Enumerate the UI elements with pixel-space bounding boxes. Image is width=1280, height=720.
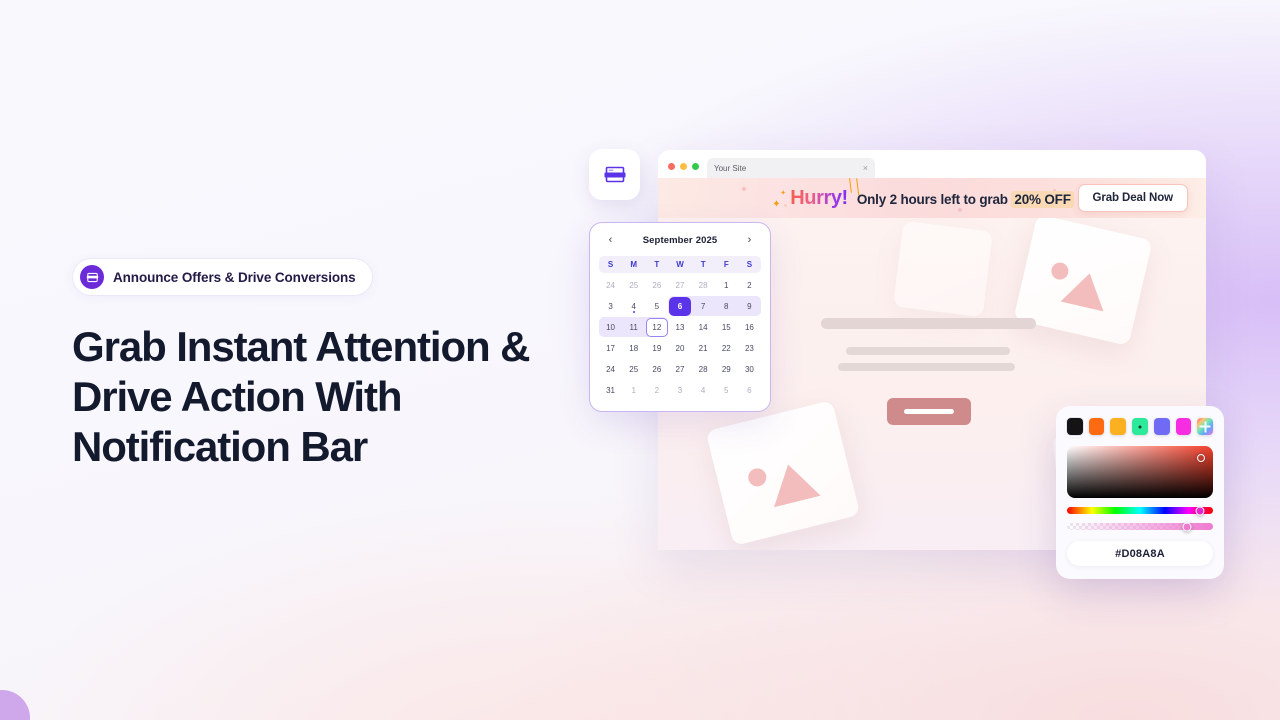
calendar-day-label: 4	[623, 297, 645, 316]
notification-hurry-text: Hurry!	[790, 187, 848, 210]
calendar-week-row: 24252627282930	[599, 359, 761, 379]
calendar-day-cell[interactable]: 31	[599, 380, 622, 400]
calendar-day-cell[interactable]: 24	[599, 275, 622, 295]
calendar-week-row: 10111213141516	[599, 317, 761, 337]
calendar-day-cell[interactable]: 19	[645, 338, 668, 358]
calendar-day-label: 19	[646, 339, 668, 358]
notification-discount: 20% OFF	[1011, 191, 1073, 208]
calendar-day-name: M	[622, 260, 645, 269]
hue-slider[interactable]	[1067, 507, 1213, 514]
browser-chrome: Your Site ×	[658, 150, 1206, 178]
calendar-day-cell[interactable]: 16	[738, 317, 761, 337]
calendar-day-label: 7	[692, 297, 714, 316]
calendar-day-label: 6	[738, 381, 760, 400]
calendar-day-cell[interactable]: 26	[645, 359, 668, 379]
calendar-day-cell[interactable]: 24	[599, 359, 622, 379]
skeleton-button	[887, 398, 971, 425]
calendar-day-name: W	[668, 260, 691, 269]
notification-bar-icon	[80, 265, 104, 289]
calendar-week-row: 31123456	[599, 380, 761, 400]
calendar-week-row: 3456789	[599, 296, 761, 316]
calendar-day-label: 28	[692, 276, 714, 295]
close-dot[interactable]	[668, 163, 675, 170]
calendar-header: ‹ September2025 ›	[599, 233, 761, 256]
opacity-slider[interactable]	[1067, 523, 1213, 530]
calendar-day-label: 29	[715, 360, 737, 379]
calendar-day-cell[interactable]: 15	[715, 317, 738, 337]
calendar-day-cell[interactable]: 25	[622, 359, 645, 379]
calendar-title: September2025	[643, 235, 718, 246]
calendar-day-label: 10	[600, 318, 622, 337]
calendar-day-name: F	[715, 260, 738, 269]
color-swatch-indigo[interactable]	[1154, 418, 1170, 435]
calendar-day-label: 18	[623, 339, 645, 358]
calendar-day-cell[interactable]: 28	[692, 275, 715, 295]
grab-deal-now-button[interactable]: Grab Deal Now	[1078, 184, 1189, 212]
calendar-day-label: 21	[692, 339, 714, 358]
calendar-day-name: T	[692, 260, 715, 269]
notification-message: Only 2 hours left to grab 20% OFF	[857, 192, 1074, 207]
calendar-day-label: 24	[600, 276, 622, 295]
calendar-day-cell[interactable]: 27	[668, 359, 691, 379]
image-icon	[765, 459, 821, 507]
calendar-day-cell[interactable]: 12	[645, 317, 668, 337]
calendar-day-name: S	[738, 260, 761, 269]
calendar-year: 2025	[696, 235, 718, 246]
hex-color-input[interactable]: #D08A8A	[1067, 541, 1213, 566]
browser-tab-label: Your Site	[714, 164, 746, 173]
color-swatch-mint[interactable]	[1132, 418, 1148, 435]
color-picker-panel[interactable]: #D08A8A	[1056, 406, 1224, 579]
skeleton-heading	[821, 318, 1036, 329]
calendar-day-label: 3	[669, 381, 691, 400]
calendar-day-cell[interactable]: 6	[738, 380, 761, 400]
calendar-week-row: 17181920212223	[599, 338, 761, 358]
notification-message-prefix: Only 2 hours left to grab	[857, 192, 1012, 207]
calendar-day-label: 23	[738, 339, 760, 358]
confetti-dot	[784, 204, 787, 207]
hue-slider-handle[interactable]	[1195, 506, 1204, 515]
calendar-day-cell[interactable]: 1	[715, 275, 738, 295]
calendar-day-cell[interactable]: 27	[668, 275, 691, 295]
calendar-day-cell[interactable]: 30	[738, 359, 761, 379]
calendar-day-cell[interactable]: 10	[599, 317, 622, 337]
calendar-day-cell[interactable]: 4	[622, 296, 645, 316]
calendar-day-label: 25	[623, 276, 645, 295]
swatch-dot-icon	[1139, 425, 1142, 428]
calendar-day-cell[interactable]: 7	[692, 296, 715, 316]
calendar-day-cell[interactable]: 9	[738, 296, 761, 316]
opacity-slider-handle[interactable]	[1182, 522, 1191, 531]
skeleton-text-line	[846, 347, 1010, 355]
calendar-day-cell[interactable]: 20	[668, 338, 691, 358]
sparkle-icon: ✦	[780, 189, 786, 197]
calendar-day-label: 20	[669, 339, 691, 358]
calendar-day-label: 27	[669, 276, 691, 295]
calendar-day-cell[interactable]: 21	[692, 338, 715, 358]
calendar-day-cell[interactable]: 4	[692, 380, 715, 400]
browser-tab[interactable]: Your Site ×	[707, 158, 875, 178]
calendar-day-cell[interactable]: 13	[668, 317, 691, 337]
calendar-day-cell[interactable]: 3	[668, 380, 691, 400]
skeleton-text-line	[838, 363, 1015, 371]
image-icon	[1061, 268, 1112, 311]
calendar-day-label: 27	[669, 360, 691, 379]
calendar-day-cell[interactable]: 25	[622, 275, 645, 295]
calendar-day-cell[interactable]: 5	[715, 380, 738, 400]
notification-message-group: ✦ ✦ Hurry! ╲╲ Only 2 hours left to grab …	[790, 187, 1074, 210]
calendar-day-label: 15	[715, 318, 737, 337]
saturation-brightness-area[interactable]	[1067, 446, 1213, 498]
calendar-day-name: T	[645, 260, 668, 269]
calendar-day-label: 2	[738, 276, 760, 295]
color-swatch-custom-rainbow[interactable]	[1197, 418, 1213, 435]
hero-copy: Announce Offers & Drive Conversions Grab…	[72, 258, 592, 472]
calendar-day-cell[interactable]: 14	[692, 317, 715, 337]
page-title: Grab Instant Attention & Drive Action Wi…	[72, 322, 552, 472]
calendar-day-cell[interactable]: 22	[715, 338, 738, 358]
calendar-day-label: 9	[738, 297, 760, 316]
calendar-grid: 2425262728123456789101112131415161718192…	[599, 275, 761, 400]
notification-bar-icon	[601, 161, 629, 189]
calendar-day-label: 1	[715, 276, 737, 295]
date-range-calendar[interactable]: ‹ September2025 › S M T W T F S 24252627…	[589, 222, 771, 412]
calendar-day-cell[interactable]: 11	[622, 317, 645, 337]
calendar-day-label: 17	[600, 339, 622, 358]
calendar-day-cell[interactable]: 3	[599, 296, 622, 316]
calendar-day-label: 5	[646, 297, 668, 316]
calendar-day-label: 12	[646, 318, 668, 337]
eyebrow-badge: Announce Offers & Drive Conversions	[72, 258, 373, 296]
color-swatch-black[interactable]	[1067, 418, 1083, 435]
calendar-day-label: 26	[646, 276, 668, 295]
calendar-day-cell[interactable]: 8	[715, 296, 738, 316]
calendar-day-label: 25	[623, 360, 645, 379]
notification-bar: ✦ ✦ Hurry! ╲╲ Only 2 hours left to grab …	[658, 178, 1206, 218]
calendar-day-cell[interactable]: 17	[599, 338, 622, 358]
image-placeholder-card	[893, 221, 993, 317]
calendar-day-cell[interactable]: 18	[622, 338, 645, 358]
notification-bar-widget[interactable]	[589, 149, 640, 200]
confetti-dot	[742, 187, 746, 191]
color-swatch-orange[interactable]	[1089, 418, 1105, 435]
color-swatch-row	[1067, 418, 1213, 435]
calendar-day-cell[interactable]: 29	[715, 359, 738, 379]
close-icon[interactable]: ×	[863, 164, 868, 173]
calendar-day-label: 6	[669, 297, 691, 316]
calendar-day-label: 26	[646, 360, 668, 379]
maximize-dot[interactable]	[692, 163, 699, 170]
calendar-day-cell[interactable]: 23	[738, 338, 761, 358]
calendar-day-label: 14	[692, 318, 714, 337]
calendar-day-cell[interactable]: 6	[668, 296, 691, 316]
calendar-day-label: 31	[600, 381, 622, 400]
sparkle-icon: ✦	[772, 199, 780, 210]
saturation-handle[interactable]	[1197, 454, 1205, 462]
calendar-day-label: 3	[600, 297, 622, 316]
chevron-right-icon[interactable]: ›	[743, 235, 756, 246]
calendar-day-label: 1	[623, 381, 645, 400]
calendar-day-label: 28	[692, 360, 714, 379]
calendar-week-row: 242526272812	[599, 275, 761, 295]
calendar-day-cell[interactable]: 26	[645, 275, 668, 295]
calendar-day-name: S	[599, 260, 622, 269]
calendar-day-label: 24	[600, 360, 622, 379]
calendar-day-cell[interactable]: 28	[692, 359, 715, 379]
color-swatch-amber[interactable]	[1110, 418, 1126, 435]
minimize-dot[interactable]	[680, 163, 687, 170]
calendar-day-names: S M T W T F S	[599, 256, 761, 273]
calendar-day-label: 8	[715, 297, 737, 316]
calendar-day-cell[interactable]: 1	[622, 380, 645, 400]
calendar-day-label: 2	[646, 381, 668, 400]
calendar-day-label: 22	[715, 339, 737, 358]
hero-section: Announce Offers & Drive Conversions Grab…	[0, 0, 1280, 720]
color-swatch-magenta[interactable]	[1176, 418, 1192, 435]
chevron-left-icon[interactable]: ‹	[604, 235, 617, 246]
window-control-dots	[668, 163, 699, 178]
eyebrow-badge-label: Announce Offers & Drive Conversions	[113, 270, 356, 285]
calendar-day-cell[interactable]: 2	[738, 275, 761, 295]
calendar-day-label: 30	[738, 360, 760, 379]
calendar-month: September	[643, 235, 693, 246]
calendar-day-label: 11	[623, 318, 645, 337]
calendar-day-label: 5	[715, 381, 737, 400]
decorative-orb	[0, 690, 30, 720]
calendar-day-cell[interactable]: 2	[645, 380, 668, 400]
calendar-day-label: 16	[738, 318, 760, 337]
calendar-day-label: 4	[692, 381, 714, 400]
image-placeholder-card	[706, 400, 861, 546]
calendar-day-cell[interactable]: 5	[645, 296, 668, 316]
calendar-day-label: 13	[669, 318, 691, 337]
